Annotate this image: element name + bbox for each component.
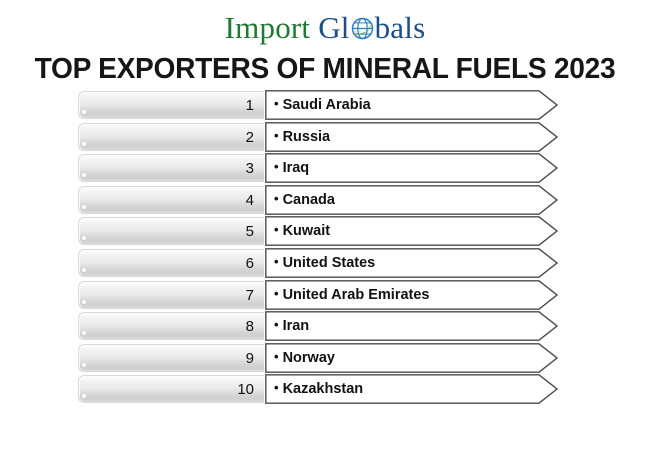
rank-number: 4 [246,187,254,215]
bullet-icon: • [274,159,279,174]
rank-box: 1 [78,91,264,119]
country-label: •Kuwait [274,216,330,246]
country-name: Russia [283,129,331,145]
country-label: •United Arab Emirates [274,280,429,310]
bullet-icon: • [274,349,279,364]
country-arrow: •Kazakhstan [265,374,558,404]
rank-number: 10 [237,376,254,404]
rank-number: 3 [246,155,254,183]
country-name: Canada [283,192,335,208]
country-arrow: •Saudi Arabia [265,90,558,120]
list-item: 6 •United States [78,249,558,277]
bullet-icon: • [274,254,279,269]
rank-box: 10 [78,375,264,403]
list-item: 8 •Iran [78,312,558,340]
list-item: 1 •Saudi Arabia [78,91,558,119]
rank-box: 7 [78,281,264,309]
rank-number: 8 [246,313,254,341]
bullet-icon: • [274,191,279,206]
country-arrow: •Norway [265,343,558,373]
list-item: 5 •Kuwait [78,217,558,245]
bullet-icon: • [274,96,279,111]
country-label: •Norway [274,343,335,373]
rank-number: 1 [246,92,254,120]
country-label: •Iran [274,311,309,341]
logo-word-import: Import [225,10,311,45]
country-arrow: •Russia [265,122,558,152]
country-arrow: •Canada [265,185,558,215]
bullet-icon: • [274,317,279,332]
country-name: United States [283,255,376,271]
rank-number: 5 [246,218,254,246]
logo-word-gl: Gl [318,10,349,45]
logo-text: Import Gl bals [225,11,426,45]
brand-logo: Import Gl bals [0,11,650,51]
country-label: •Saudi Arabia [274,90,371,120]
bullet-icon: • [274,222,279,237]
logo-word-bals: bals [375,10,426,45]
list-item: 9 •Norway [78,344,558,372]
country-arrow: •United Arab Emirates [265,280,558,310]
country-label: •Canada [274,185,335,215]
list-item: 7 •United Arab Emirates [78,281,558,309]
bullet-icon: • [274,286,279,301]
rank-number: 9 [246,345,254,373]
list-item: 3 •Iraq [78,154,558,182]
country-arrow: •Iraq [265,153,558,183]
bullet-icon: • [274,380,279,395]
rank-box: 8 [78,312,264,340]
country-name: Saudi Arabia [283,97,371,113]
list-item: 10 •Kazakhstan [78,375,558,403]
list-item: 2 •Russia [78,123,558,151]
country-label: •United States [274,248,375,278]
country-arrow: •Iran [265,311,558,341]
rank-number: 2 [246,124,254,152]
rank-box: 5 [78,217,264,245]
country-label: •Russia [274,122,330,152]
country-arrow: •United States [265,248,558,278]
country-name: Iran [283,318,310,334]
list-item: 4 •Canada [78,186,558,214]
rank-box: 4 [78,186,264,214]
exporters-list: 1 •Saudi Arabia 2 •Russia 3 •Iraq [78,91,558,407]
country-name: Iraq [283,160,310,176]
bullet-icon: • [274,128,279,143]
rank-box: 3 [78,154,264,182]
country-name: Kazakhstan [283,381,364,397]
rank-number: 6 [246,250,254,278]
country-label: •Kazakhstan [274,374,363,404]
rank-number: 7 [246,282,254,310]
rank-box: 2 [78,123,264,151]
country-name: Kuwait [283,223,331,239]
country-name: United Arab Emirates [283,287,430,303]
country-label: •Iraq [274,153,309,183]
page-title: TOP EXPORTERS OF MINERAL FUELS 2023 [10,52,641,86]
country-arrow: •Kuwait [265,216,558,246]
rank-box: 6 [78,249,264,277]
country-name: Norway [283,350,335,366]
rank-box: 9 [78,344,264,372]
globe-icon [350,14,375,39]
